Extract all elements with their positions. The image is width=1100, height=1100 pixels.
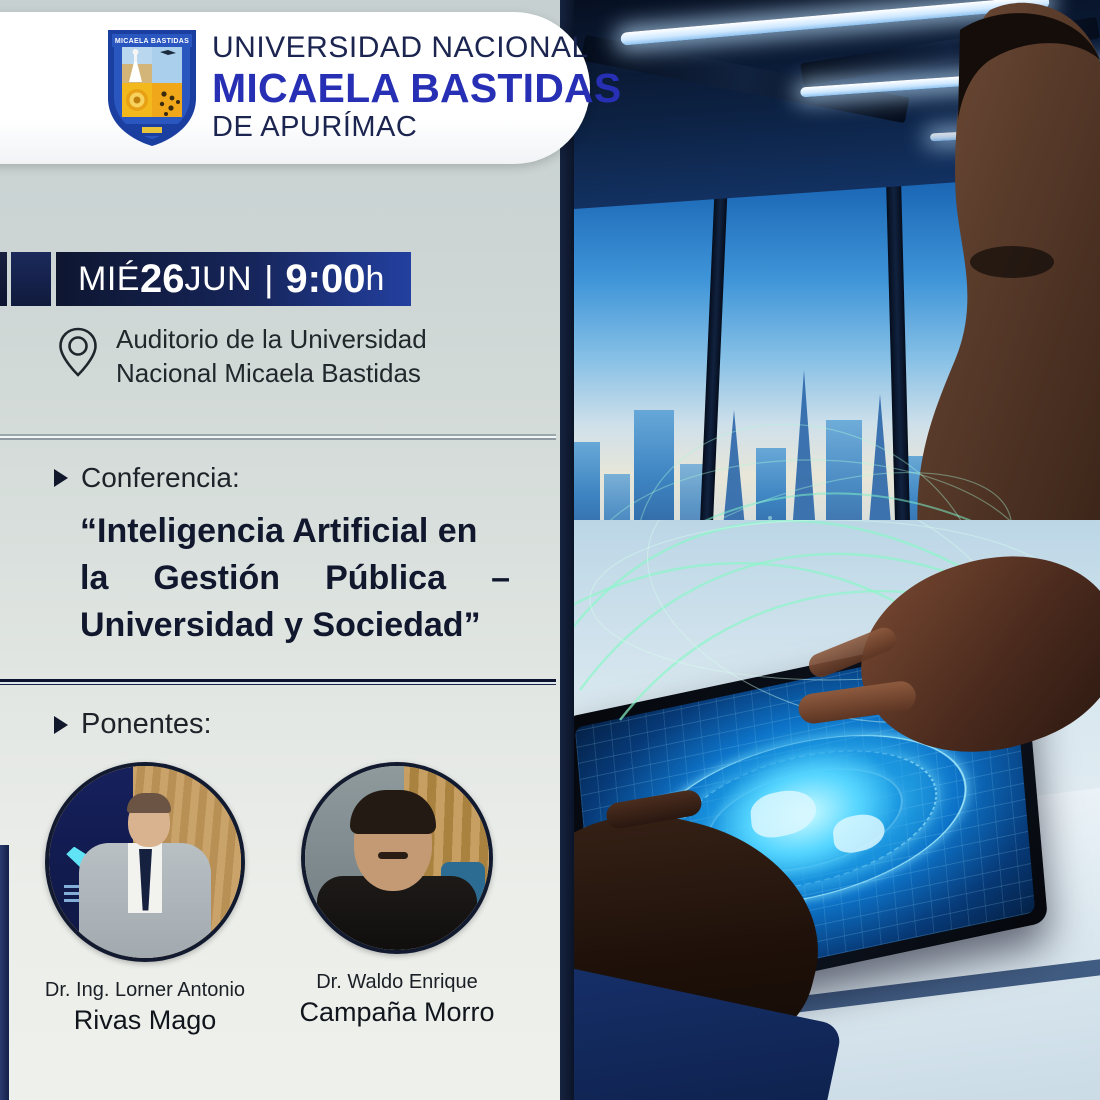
speaker-name: Rivas Mago bbox=[45, 1003, 245, 1037]
location-pin-icon bbox=[58, 326, 98, 378]
event-photo bbox=[560, 0, 1100, 1100]
triangle-bullet-icon bbox=[54, 469, 68, 487]
tablet-scene bbox=[560, 520, 1100, 1100]
event-time: 9:00 bbox=[285, 257, 365, 302]
conference-label-row: Conferencia: bbox=[54, 462, 240, 494]
conference-label: Conferencia: bbox=[81, 462, 240, 494]
university-crest-icon: MICAELA BASTIDAS bbox=[104, 28, 200, 146]
university-line-1: UNIVERSIDAD NACIONAL bbox=[212, 30, 621, 66]
speaker-photo-rivas-mago bbox=[45, 762, 245, 962]
venue-line-1: Auditorio de la Universidad bbox=[116, 322, 427, 356]
conference-title-line-1: “Inteligencia Artificial en bbox=[80, 508, 510, 555]
speaker-name-block: Dr. Waldo Enrique Campaña Morro bbox=[299, 970, 494, 1029]
speakers-label: Ponentes: bbox=[81, 708, 212, 741]
venue-block: Auditorio de la Universidad Nacional Mic… bbox=[58, 322, 528, 390]
speakers-label-row: Ponentes: bbox=[54, 708, 212, 741]
speaker-card: Dr. Waldo Enrique Campaña Morro bbox=[292, 762, 502, 1037]
date-time-banner: MIÉ 26 JUN | 9:00 h bbox=[0, 252, 411, 306]
photo-left-frame bbox=[560, 0, 574, 1100]
conference-title-line-2: laGestiónPública– bbox=[80, 555, 510, 602]
man-profile-silhouette bbox=[560, 0, 1100, 560]
section-divider-bottom bbox=[0, 679, 556, 685]
university-line-3: DE APURÍMAC bbox=[212, 110, 621, 144]
event-time-suffix: h bbox=[365, 260, 384, 299]
university-line-2: MICAELA BASTIDAS bbox=[212, 66, 621, 110]
speaker-photo-campana-morro bbox=[301, 762, 493, 954]
banner-tick-thin bbox=[0, 252, 7, 306]
date-banner-body: MIÉ 26 JUN | 9:00 h bbox=[56, 252, 411, 306]
speaker-name-block: Dr. Ing. Lorner Antonio Rivas Mago bbox=[45, 978, 245, 1037]
speaker-prefix: Dr. Ing. Lorner Antonio bbox=[45, 978, 245, 1003]
triangle-bullet-icon bbox=[54, 716, 68, 734]
speakers-list: Dr. Ing. Lorner Antonio Rivas Mago Dr. W… bbox=[40, 762, 540, 1037]
crest-motto-text: MICAELA BASTIDAS bbox=[115, 38, 189, 45]
venue-address: Auditorio de la Universidad Nacional Mic… bbox=[116, 322, 427, 390]
event-month: JUN bbox=[184, 260, 252, 299]
window-sky-background bbox=[560, 0, 1100, 560]
event-day-name: MIÉ bbox=[78, 260, 140, 299]
venue-line-2: Nacional Micaela Bastidas bbox=[116, 356, 427, 390]
conference-title-line-3: Universidad y Sociedad” bbox=[80, 602, 510, 649]
conference-title: “Inteligencia Artificial en laGestiónPúb… bbox=[80, 508, 510, 649]
speaker-name: Campaña Morro bbox=[299, 995, 494, 1029]
poster-canvas: MICAELA BASTIDAS UNIVERSIDAD NACIONAL MI… bbox=[0, 0, 1100, 1100]
banner-separator: | bbox=[264, 258, 273, 300]
event-day-number: 26 bbox=[140, 257, 185, 302]
university-name-block: UNIVERSIDAD NACIONAL MICAELA BASTIDAS DE… bbox=[212, 30, 621, 144]
left-accent-bar bbox=[0, 845, 9, 1100]
speaker-card: Dr. Ing. Lorner Antonio Rivas Mago bbox=[40, 762, 250, 1037]
banner-tick-block bbox=[11, 252, 51, 306]
section-divider-top bbox=[0, 434, 556, 440]
speaker-prefix: Dr. Waldo Enrique bbox=[299, 970, 494, 995]
